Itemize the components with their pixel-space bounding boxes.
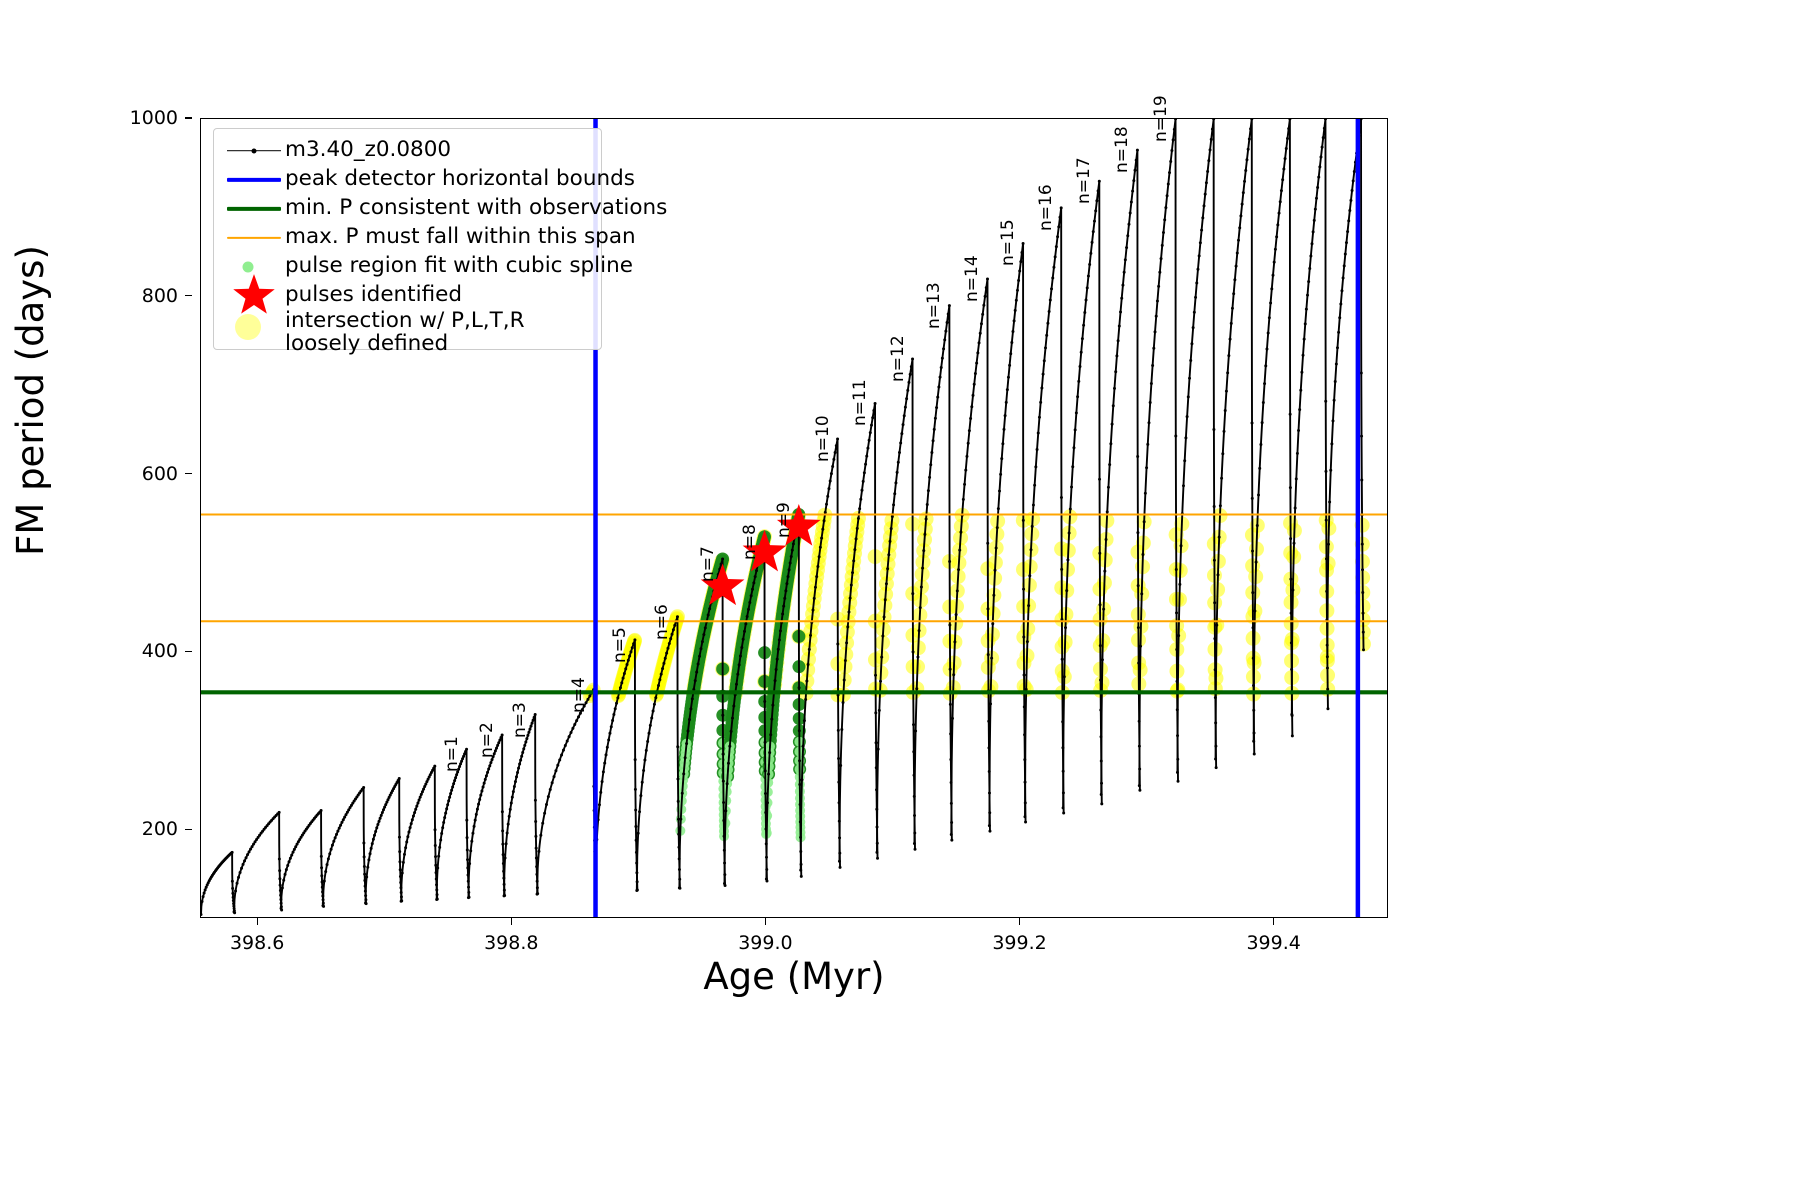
curve-data-point (1215, 766, 1218, 769)
legend-item[interactable]: intersection w/ P,L,T,Rloosely defined (214, 310, 601, 362)
legend-item[interactable]: m3.40_z0.0800 (214, 136, 601, 165)
period-curve-segment (1063, 181, 1102, 808)
y-tick-mark (185, 651, 192, 652)
curve-data-point (986, 278, 989, 281)
curve-data-point (870, 424, 873, 427)
curve-data-point (999, 473, 1002, 476)
curve-data-point (320, 855, 323, 858)
curve-data-point (331, 844, 334, 847)
curve-data-point (466, 848, 469, 851)
legend-key (223, 312, 285, 341)
curve-data-point (292, 851, 295, 854)
curve-data-point (480, 789, 483, 792)
tooth-label-n-18: n=18 (1112, 126, 1132, 173)
curve-data-point (1178, 583, 1181, 586)
curve-data-point (616, 696, 619, 699)
curve-data-point (900, 432, 903, 435)
curve-data-point (438, 846, 441, 849)
curve-data-point (373, 834, 376, 837)
curve-data-point (679, 818, 682, 821)
curve-data-point (543, 812, 546, 815)
curve-data-point (320, 874, 323, 877)
curve-data-point (1220, 477, 1223, 480)
curve-data-point (510, 802, 513, 805)
curve-data-point (944, 330, 947, 333)
legend-item[interactable]: peak detector horizontal bounds (214, 165, 601, 194)
curve-data-point (564, 744, 567, 747)
y-tick-mark (185, 295, 192, 296)
curve-data-point (955, 613, 958, 616)
curve-data-point (948, 624, 951, 627)
curve-data-point (1226, 371, 1229, 374)
curve-data-point (1257, 493, 1260, 496)
legend-item[interactable]: min. P consistent with observations (214, 194, 601, 223)
curve-data-point (454, 776, 457, 779)
curve-data-point (804, 698, 807, 701)
point-marker-icon (252, 148, 257, 153)
curve-data-point (1251, 549, 1254, 552)
legend-item[interactable]: pulses identified (214, 281, 601, 310)
curve-data-point (1327, 543, 1330, 546)
curve-data-point (1349, 199, 1352, 202)
curve-data-point (1092, 230, 1095, 233)
curve-data-point (1114, 370, 1117, 373)
curve-data-point (1081, 337, 1084, 340)
curve-data-point (446, 803, 449, 806)
curve-data-point (1233, 278, 1236, 281)
curve-data-point (400, 900, 403, 903)
curve-data-point (1279, 200, 1282, 203)
curve-data-point (1098, 180, 1101, 183)
curve-data-point (568, 735, 571, 738)
curve-data-point (1186, 415, 1189, 418)
period-curve-segment (537, 690, 596, 894)
curve-data-point (1009, 352, 1012, 355)
curve-data-point (1274, 248, 1277, 251)
curve-data-point (722, 801, 725, 804)
curve-data-point (1062, 806, 1065, 809)
tooth-label-n-10: n=10 (813, 415, 833, 462)
curve-data-point (681, 792, 684, 795)
curve-data-point (1326, 655, 1329, 658)
curve-data-point (755, 569, 758, 572)
curve-data-point (809, 634, 812, 637)
curve-data-point (242, 863, 245, 866)
curve-data-point (650, 716, 653, 719)
curve-data-point (790, 555, 793, 558)
curve-data-point (634, 825, 637, 828)
curve-data-point (936, 396, 939, 399)
curve-data-point (742, 638, 745, 641)
curve-data-point (1177, 780, 1180, 783)
curve-data-point (1136, 455, 1139, 458)
curve-data-point (665, 652, 668, 655)
curve-data-point (339, 824, 342, 827)
curve-data-point (946, 321, 949, 324)
curve-data-point (947, 312, 950, 315)
curve-data-point (1351, 189, 1354, 192)
curve-data-point (363, 865, 366, 868)
curve-data-point (1173, 128, 1176, 131)
curve-data-point (522, 747, 525, 750)
curve-data-point (1205, 181, 1208, 184)
curve-data-point (1049, 299, 1052, 302)
curve-data-point (398, 836, 401, 839)
curve-data-point (998, 490, 1001, 493)
curve-data-point (1120, 297, 1123, 300)
curve-data-point (897, 461, 900, 464)
curve-data-point (1052, 266, 1055, 269)
curve-data-point (1223, 430, 1226, 433)
curve-data-point (1001, 442, 1004, 445)
curve-data-point (1175, 568, 1178, 571)
curve-data-point (996, 526, 999, 529)
curve-data-point (926, 503, 929, 506)
curve-data-point (645, 749, 648, 752)
curve-data-point (1085, 298, 1088, 301)
curve-data-point (1064, 626, 1067, 629)
curve-data-point (465, 819, 468, 822)
curve-data-point (892, 503, 895, 506)
curve-data-point (855, 537, 858, 540)
curve-data-point (1060, 206, 1063, 209)
curve-data-point (887, 553, 890, 556)
curve-data-point (1259, 443, 1262, 446)
curve-data-point (1239, 214, 1242, 217)
curve-data-point (1167, 183, 1170, 186)
curve-data-point (940, 366, 943, 369)
curve-data-point (1189, 359, 1192, 362)
curve-data-point (414, 808, 417, 811)
curve-data-point (865, 455, 868, 458)
curve-data-point (1323, 127, 1326, 130)
curve-data-point (1345, 241, 1348, 244)
curve-data-point (1322, 136, 1325, 139)
curve-data-point (771, 704, 774, 707)
tooth-label-n-16: n=16 (1036, 184, 1056, 231)
curve-data-point (534, 820, 537, 823)
curve-data-point (467, 896, 470, 899)
curve-data-point (699, 647, 702, 650)
curve-data-point (1066, 558, 1069, 561)
curve-data-point (875, 851, 878, 854)
curve-data-point (1016, 289, 1019, 292)
curve-data-point (497, 741, 500, 744)
curve-data-point (1289, 413, 1292, 416)
curve-data-point (246, 853, 249, 856)
curve-data-point (1291, 588, 1294, 591)
curve-data-point (320, 866, 323, 869)
curve-data-point (883, 616, 886, 619)
curve-data-point (974, 372, 977, 375)
curve-data-point (1304, 322, 1307, 325)
curve-data-point (382, 808, 385, 811)
curve-data-point (764, 792, 767, 795)
curve-data-point (508, 815, 511, 818)
curve-data-point (231, 887, 234, 890)
period-curve-segment (1101, 150, 1140, 794)
curve-data-point (1162, 231, 1165, 234)
x-tick-label: 399.2 (992, 932, 1046, 954)
curve-data-point (1055, 245, 1058, 248)
curve-data-point (1195, 282, 1198, 285)
curve-data-point (466, 858, 469, 861)
curve-data-point (1324, 470, 1327, 473)
curve-data-point (1194, 296, 1197, 299)
curve-data-point (777, 648, 780, 651)
curve-data-point (290, 854, 293, 857)
curve-data-point (909, 373, 912, 376)
curve-data-point (889, 540, 892, 543)
curve-data-point (943, 338, 946, 341)
curve-data-point (979, 332, 982, 335)
curve-data-point (551, 781, 554, 784)
curve-data-point (1321, 146, 1324, 149)
curve-data-point (1302, 354, 1305, 357)
y-tick-mark (185, 473, 192, 474)
curve-data-point (539, 834, 542, 837)
curve-data-point (370, 847, 373, 850)
curve-data-point (401, 871, 404, 874)
curve-data-point (1204, 193, 1207, 196)
curve-data-point (1069, 508, 1072, 511)
curve-data-point (1276, 223, 1279, 226)
curve-data-point (1138, 784, 1141, 787)
curve-data-point (1017, 279, 1020, 282)
curve-data-point (657, 684, 660, 687)
curve-data-point (1225, 390, 1228, 393)
curve-data-point (1023, 673, 1026, 676)
curve-data-point (844, 659, 847, 662)
curve-data-point (541, 822, 544, 825)
tooth-label-n-13: n=13 (924, 282, 944, 329)
curve-data-point (697, 663, 700, 666)
curve-data-point (1086, 286, 1089, 289)
curve-data-point (634, 788, 637, 791)
curve-data-point (545, 803, 548, 806)
curve-data-point (1295, 477, 1298, 480)
curve-data-point (634, 758, 637, 761)
curve-data-point (367, 858, 370, 861)
curve-data-point (918, 629, 921, 632)
curve-data-point (876, 857, 879, 860)
curve-data-point (896, 471, 899, 474)
tooth-label-n-11: n=11 (850, 380, 870, 427)
curve-data-point (282, 879, 285, 882)
curve-data-point (1158, 271, 1161, 274)
curve-data-point (1071, 465, 1074, 468)
curve-data-point (932, 439, 935, 442)
curve-data-point (805, 680, 808, 683)
curve-data-point (575, 719, 578, 722)
curve-data-point (1147, 421, 1150, 424)
curve-data-point (1157, 285, 1160, 288)
curve-data-point (434, 855, 437, 858)
curve-data-point (1201, 216, 1204, 219)
curve-data-point (982, 304, 985, 307)
curve-data-point (248, 850, 251, 853)
curve-data-point (1180, 544, 1183, 547)
curve-data-point (491, 758, 494, 761)
curve-data-point (673, 624, 676, 627)
y-tick-mark (185, 117, 192, 118)
curve-data-point (405, 840, 408, 843)
curve-data-point (1347, 219, 1350, 222)
curve-data-point (798, 783, 801, 786)
curve-data-point (1065, 589, 1068, 592)
curve-data-point (912, 723, 915, 726)
curve-data-point (521, 751, 524, 754)
curve-data-point (970, 405, 973, 408)
curve-data-point (571, 727, 574, 730)
curve-data-point (547, 795, 550, 798)
curve-data-point (1127, 223, 1130, 226)
curve-data-point (1156, 300, 1159, 303)
curve-data-point (1213, 559, 1216, 562)
curve-data-point (622, 677, 625, 680)
curve-data-point (489, 761, 492, 764)
curve-data-point (912, 650, 915, 653)
curve-data-point (834, 451, 837, 454)
curve-data-point (435, 898, 438, 901)
curve-data-point (975, 362, 978, 365)
period-curve-segment (504, 715, 538, 896)
curve-data-point (687, 730, 690, 733)
curve-data-point (827, 487, 830, 490)
curve-data-point (633, 638, 636, 641)
curve-data-point (1319, 155, 1322, 158)
curve-data-point (1307, 280, 1310, 283)
tooth-label-n-8: n=8 (740, 524, 760, 560)
curve-data-point (792, 542, 795, 545)
curve-data-point (324, 870, 327, 873)
curve-data-point (1326, 707, 1329, 710)
curve-data-point (399, 868, 402, 871)
curve-data-point (327, 857, 330, 860)
curve-data-point (898, 451, 901, 454)
curve-data-point (1258, 467, 1261, 470)
curve-data-point (451, 785, 454, 788)
curve-data-point (281, 886, 284, 889)
curve-data-point (1291, 734, 1294, 737)
curve-data-point (798, 729, 801, 732)
curve-data-point (922, 549, 925, 552)
curve-data-point (1216, 573, 1219, 576)
curve-data-point (914, 729, 917, 732)
curve-data-point (1119, 310, 1122, 313)
curve-data-point (969, 417, 972, 420)
curve-data-point (1144, 492, 1147, 495)
curve-data-point (465, 748, 468, 751)
curve-data-point (962, 498, 965, 501)
curve-data-point (448, 796, 451, 799)
curve-data-point (1014, 309, 1017, 312)
tooth-label-n-3: n=3 (510, 702, 530, 738)
curve-data-point (1101, 658, 1104, 661)
curve-data-point (964, 469, 967, 472)
curve-data-point (416, 802, 419, 805)
curve-data-point (1022, 636, 1025, 639)
curve-data-point (1275, 235, 1278, 238)
curve-data-point (743, 630, 746, 633)
curve-data-point (402, 861, 405, 864)
curve-data-point (415, 805, 418, 808)
curve-data-point (421, 790, 424, 793)
y-tick-label: 200 (142, 818, 178, 840)
curve-data-point (328, 852, 331, 855)
curve-data-point (1187, 395, 1190, 398)
curve-data-point (791, 549, 794, 552)
curve-data-point (948, 304, 951, 307)
curve-data-point (747, 608, 750, 611)
x-tick-mark (1019, 918, 1020, 925)
curve-data-point (1134, 169, 1137, 172)
curve-data-point (1099, 644, 1102, 647)
curve-data-point (1160, 257, 1163, 260)
curve-data-point (484, 778, 487, 781)
curve-data-point (1100, 793, 1103, 796)
line-icon (227, 177, 281, 181)
curve-data-point (1235, 265, 1238, 268)
curve-data-point (410, 822, 413, 825)
curve-data-point (658, 678, 661, 681)
curve-data-point (721, 558, 724, 561)
curve-data-point (1251, 421, 1254, 424)
curve-data-point (769, 733, 772, 736)
curve-data-point (519, 759, 522, 762)
curve-data-point (902, 423, 905, 426)
curve-data-point (748, 601, 751, 604)
curve-data-point (1022, 519, 1025, 522)
curve-data-point (1078, 365, 1081, 368)
curve-data-point (649, 724, 652, 727)
curve-data-point (724, 809, 727, 812)
curve-data-point (516, 771, 519, 774)
curve-data-point (732, 704, 735, 707)
curve-data-point (501, 843, 504, 846)
curve-data-point (989, 702, 992, 705)
curve-data-point (913, 842, 916, 845)
legend-item[interactable]: max. P must fall within this span (214, 223, 601, 252)
curve-data-point (434, 828, 437, 831)
curve-data-point (371, 842, 374, 845)
curve-data-point (515, 775, 518, 778)
curve-data-point (445, 807, 448, 810)
curve-data-point (381, 811, 384, 814)
star-marker-icon (230, 274, 278, 318)
curve-data-point (950, 833, 953, 836)
curve-data-point (807, 663, 810, 666)
curve-data-point (1022, 242, 1025, 245)
curve-data-point (959, 531, 962, 534)
curve-data-point (1020, 251, 1023, 254)
curve-data-point (837, 729, 840, 732)
curve-data-point (744, 622, 747, 625)
curve-data-point (326, 863, 329, 866)
curve-data-point (746, 615, 749, 618)
curve-data-point (279, 884, 282, 887)
curve-data-point (842, 701, 845, 704)
curve-data-point (1293, 542, 1296, 545)
curve-data-point (1198, 254, 1201, 257)
curve-data-point (1335, 362, 1338, 365)
curve-data-point (1282, 168, 1285, 171)
x-axis-label: Age (Myr) (200, 955, 1388, 998)
curve-data-point (365, 875, 368, 878)
curve-data-point (1348, 209, 1351, 212)
curve-data-point (1032, 504, 1035, 507)
period-curve-segment (401, 766, 437, 901)
